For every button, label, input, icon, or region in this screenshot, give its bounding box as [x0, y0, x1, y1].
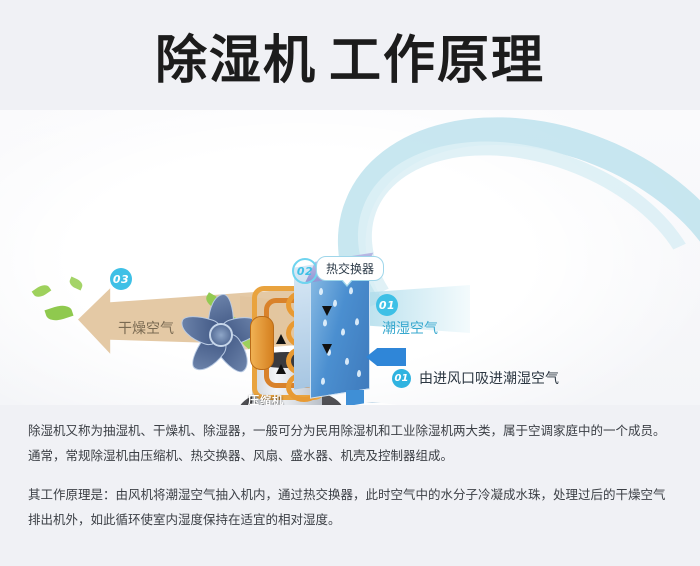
body-paragraph-1: 除湿机又称为抽湿机、干燥机、除湿器，一般可分为民用除湿机和工业除湿机两大类，属于…	[28, 418, 676, 468]
body-paragraph-2: 其工作原理是：由风机将潮湿空气抽入机内，通过热交换器，此时空气中的水分子冷凝成水…	[28, 482, 676, 532]
diagram-badge-03: 03	[110, 268, 132, 290]
humid-air-label: 潮湿空气	[382, 318, 438, 338]
diagram-stage: 压缩机 水箱 03 02 01 热交换器 干燥空气 潮湿空气 01 由进风口吸进…	[0, 110, 700, 405]
dry-air-label: 干燥空气	[118, 318, 174, 338]
diagram-badge-02: 02	[292, 258, 318, 284]
fan-hub	[209, 323, 233, 347]
leaf-icon	[68, 277, 84, 291]
compressor-label: 压缩机	[248, 392, 284, 405]
heat-exchanger-callout: 热交换器	[316, 256, 384, 281]
page-title-part1: 除湿机	[155, 31, 317, 91]
legend-item-01: 01 由进风口吸进潮湿空气	[392, 368, 692, 388]
leaf-icon	[32, 282, 52, 300]
condensate-arrow-icon	[346, 390, 364, 405]
page-title-part2: 工作原理	[329, 31, 545, 91]
legend-badge-01: 01	[392, 369, 411, 388]
intake-arrow-icon	[366, 348, 406, 366]
legend-list: 01 由进风口吸进潮湿空气 02 潮湿空气经过蒸发器冷凝成水珠 03 从上部出风…	[392, 368, 692, 405]
infographic-root: 除湿机工作原理	[0, 0, 700, 566]
leaf-icon	[44, 302, 73, 323]
evaporator-fins	[310, 267, 370, 399]
page-title: 除湿机工作原理	[0, 32, 700, 92]
diagram-badge-01: 01	[376, 294, 398, 316]
legend-text-01: 由进风口吸进潮湿空气	[419, 368, 559, 388]
body-copy: 除湿机又称为抽湿机、干燥机、除湿器，一般可分为民用除湿机和工业除湿机两大类，属于…	[28, 418, 676, 546]
